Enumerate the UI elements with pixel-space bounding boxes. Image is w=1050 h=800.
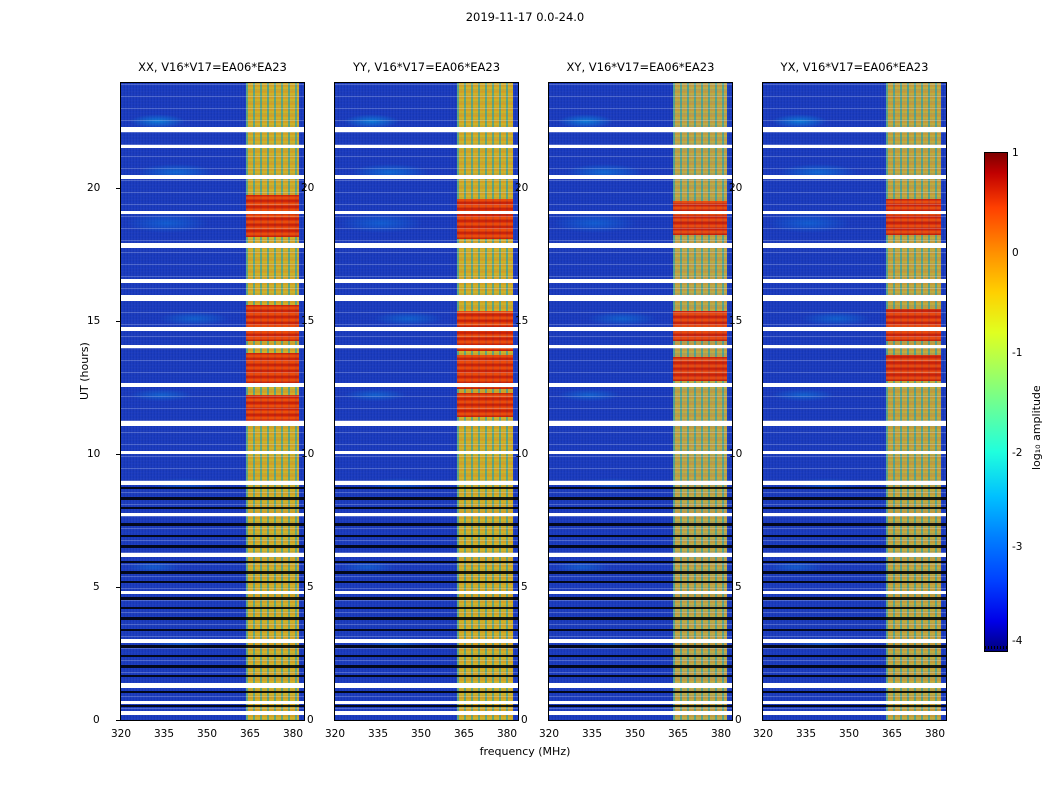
ytick-0: 0 <box>307 714 314 726</box>
ytickmark <box>116 321 120 322</box>
panel-title-xy: XY, V16*V17=EA06*EA23 <box>548 60 733 74</box>
xtick-365: 365 <box>882 728 902 740</box>
zeroed-time-rows <box>549 83 732 720</box>
figure-suptitle: 2019-11-17 0.0-24.0 <box>0 10 1050 24</box>
ytickmark <box>116 720 120 721</box>
ytickmark <box>116 454 120 455</box>
heatmap-image-xy <box>549 83 732 720</box>
cbtick-neg4: -4 <box>1012 635 1022 647</box>
colorbar <box>984 152 1008 652</box>
xtick-320: 320 <box>539 728 559 740</box>
spectrogram-panel-xy <box>548 82 733 721</box>
xtick-320: 320 <box>753 728 773 740</box>
xtick-365: 365 <box>668 728 688 740</box>
xtick-320: 320 <box>111 728 131 740</box>
xtick-350: 350 <box>625 728 645 740</box>
ytick-10: 10 <box>729 448 742 460</box>
ytick-15: 15 <box>87 315 100 327</box>
xtick-350: 350 <box>411 728 431 740</box>
cbtick-neg1: -1 <box>1012 347 1022 359</box>
ytickmark <box>116 188 120 189</box>
ytick-5: 5 <box>93 581 100 593</box>
cbtick-neg3: -3 <box>1012 541 1022 553</box>
ytick-15: 15 <box>729 315 742 327</box>
heatmap-image-xx <box>121 83 304 720</box>
zeroed-time-rows <box>121 83 304 720</box>
ytick-20: 20 <box>729 182 742 194</box>
colorbar-under-marker <box>985 646 1007 649</box>
cbtick-1: 1 <box>1012 147 1019 159</box>
xtick-335: 335 <box>154 728 174 740</box>
xtick-380: 380 <box>711 728 731 740</box>
y-axis-label: UT (hours) <box>78 342 91 400</box>
xtick-380: 380 <box>283 728 303 740</box>
heatmap-image-yy <box>335 83 518 720</box>
cbtick-neg2: -2 <box>1012 447 1022 459</box>
ytick-0: 0 <box>93 714 100 726</box>
heatmap-image-yx <box>763 83 946 720</box>
ytick-20: 20 <box>301 182 314 194</box>
xtick-365: 365 <box>240 728 260 740</box>
colorbar-label: log₁₀ amplitude <box>1030 385 1043 470</box>
panel-title-yy: YY, V16*V17=EA06*EA23 <box>334 60 519 74</box>
ytick-20: 20 <box>87 182 100 194</box>
xtick-335: 335 <box>368 728 388 740</box>
zeroed-time-rows <box>763 83 946 720</box>
spectrogram-panel-yx <box>762 82 947 721</box>
ytick-15: 15 <box>515 315 528 327</box>
ytick-10: 10 <box>87 448 100 460</box>
xtick-380: 380 <box>925 728 945 740</box>
spectrogram-panel-xx <box>120 82 305 721</box>
ytick-0: 0 <box>735 714 742 726</box>
xtick-350: 350 <box>197 728 217 740</box>
cbtick-0: 0 <box>1012 247 1019 259</box>
xtick-350: 350 <box>839 728 859 740</box>
spectrogram-panel-yy <box>334 82 519 721</box>
xtick-380: 380 <box>497 728 517 740</box>
ytick-5: 5 <box>521 581 528 593</box>
x-axis-label: frequency (MHz) <box>0 745 1050 758</box>
zeroed-time-rows <box>335 83 518 720</box>
ytick-10: 10 <box>515 448 528 460</box>
xtick-335: 335 <box>582 728 602 740</box>
ytickmark <box>116 587 120 588</box>
ytick-5: 5 <box>735 581 742 593</box>
ytick-10: 10 <box>301 448 314 460</box>
panel-title-yx: YX, V16*V17=EA06*EA23 <box>762 60 947 74</box>
ytick-5: 5 <box>307 581 314 593</box>
panel-title-xx: XX, V16*V17=EA06*EA23 <box>120 60 305 74</box>
ytick-0: 0 <box>521 714 528 726</box>
xtick-365: 365 <box>454 728 474 740</box>
xtick-320: 320 <box>325 728 345 740</box>
ytick-15: 15 <box>301 315 314 327</box>
ytick-20: 20 <box>515 182 528 194</box>
xtick-335: 335 <box>796 728 816 740</box>
